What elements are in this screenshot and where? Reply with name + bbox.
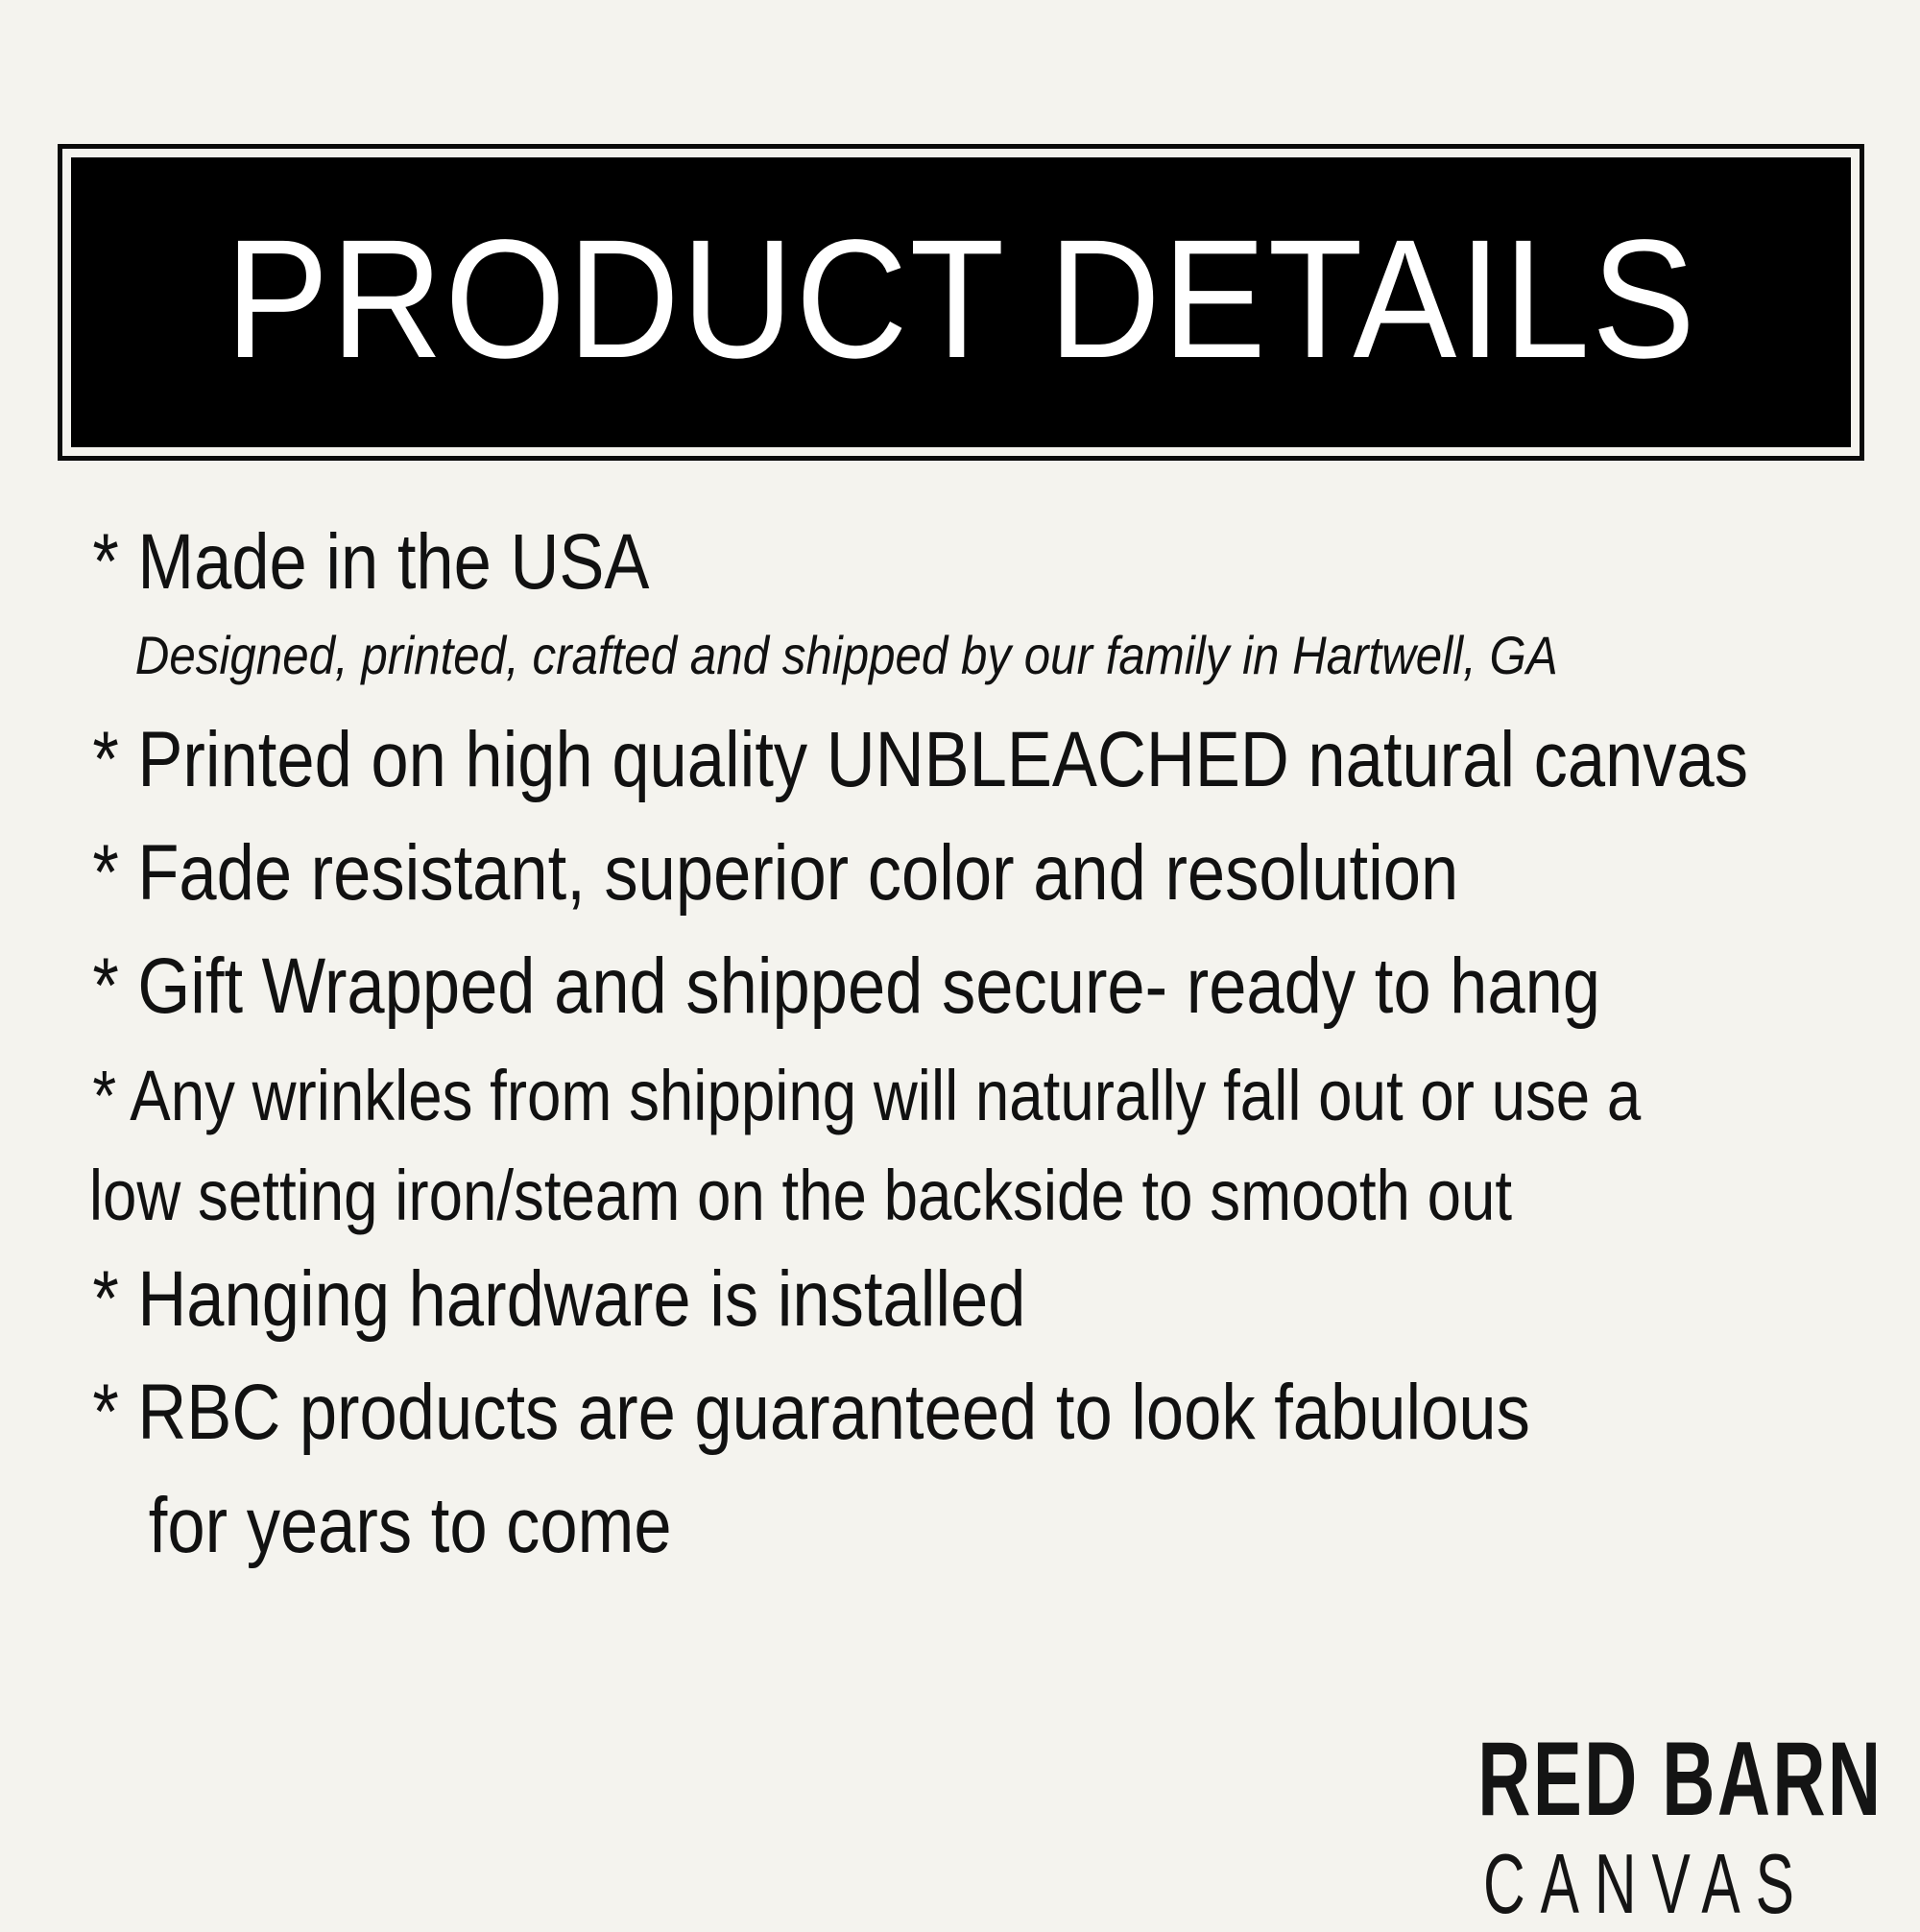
detail-item-made-in-usa-note: Designed, printed, crafted and shipped b…	[0, 629, 1690, 682]
detail-item-gift-wrapped: * Gift Wrapped and shipped secure- ready…	[0, 947, 1651, 1026]
product-details-list: * Made in the USA Designed, printed, cra…	[0, 523, 1920, 1600]
detail-item-guarantee-line-2: for years to come	[0, 1487, 1651, 1565]
detail-item-guarantee-line-1: * RBC products are guaranteed to look fa…	[0, 1373, 1651, 1452]
detail-item-unbleached-canvas: * Printed on high quality UNBLEACHED nat…	[0, 721, 1651, 799]
detail-item-hanging-hardware: * Hanging hardware is installed	[0, 1260, 1651, 1339]
brand-logo-secondary: CANVAS	[1465, 1843, 1812, 1927]
page-title: PRODUCT DETAILS	[225, 215, 1696, 390]
banner-fill: PRODUCT DETAILS	[71, 157, 1851, 447]
detail-item-fade-resistant: * Fade resistant, superior color and res…	[0, 834, 1651, 913]
brand-logo-primary: RED BARN	[1477, 1726, 1799, 1831]
detail-item-wrinkles-line-1: * Any wrinkles from shipping will natura…	[0, 1061, 1651, 1132]
detail-item-made-in-usa: * Made in the USA	[0, 523, 1651, 602]
product-details-banner: PRODUCT DETAILS	[58, 144, 1864, 461]
detail-item-wrinkles-line-2: low setting iron/steam on the backside t…	[0, 1160, 1651, 1231]
brand-logo: RED BARN CANVAS	[1432, 1737, 1845, 1912]
product-details-page: PRODUCT DETAILS * Made in the USA Design…	[0, 0, 1920, 1920]
